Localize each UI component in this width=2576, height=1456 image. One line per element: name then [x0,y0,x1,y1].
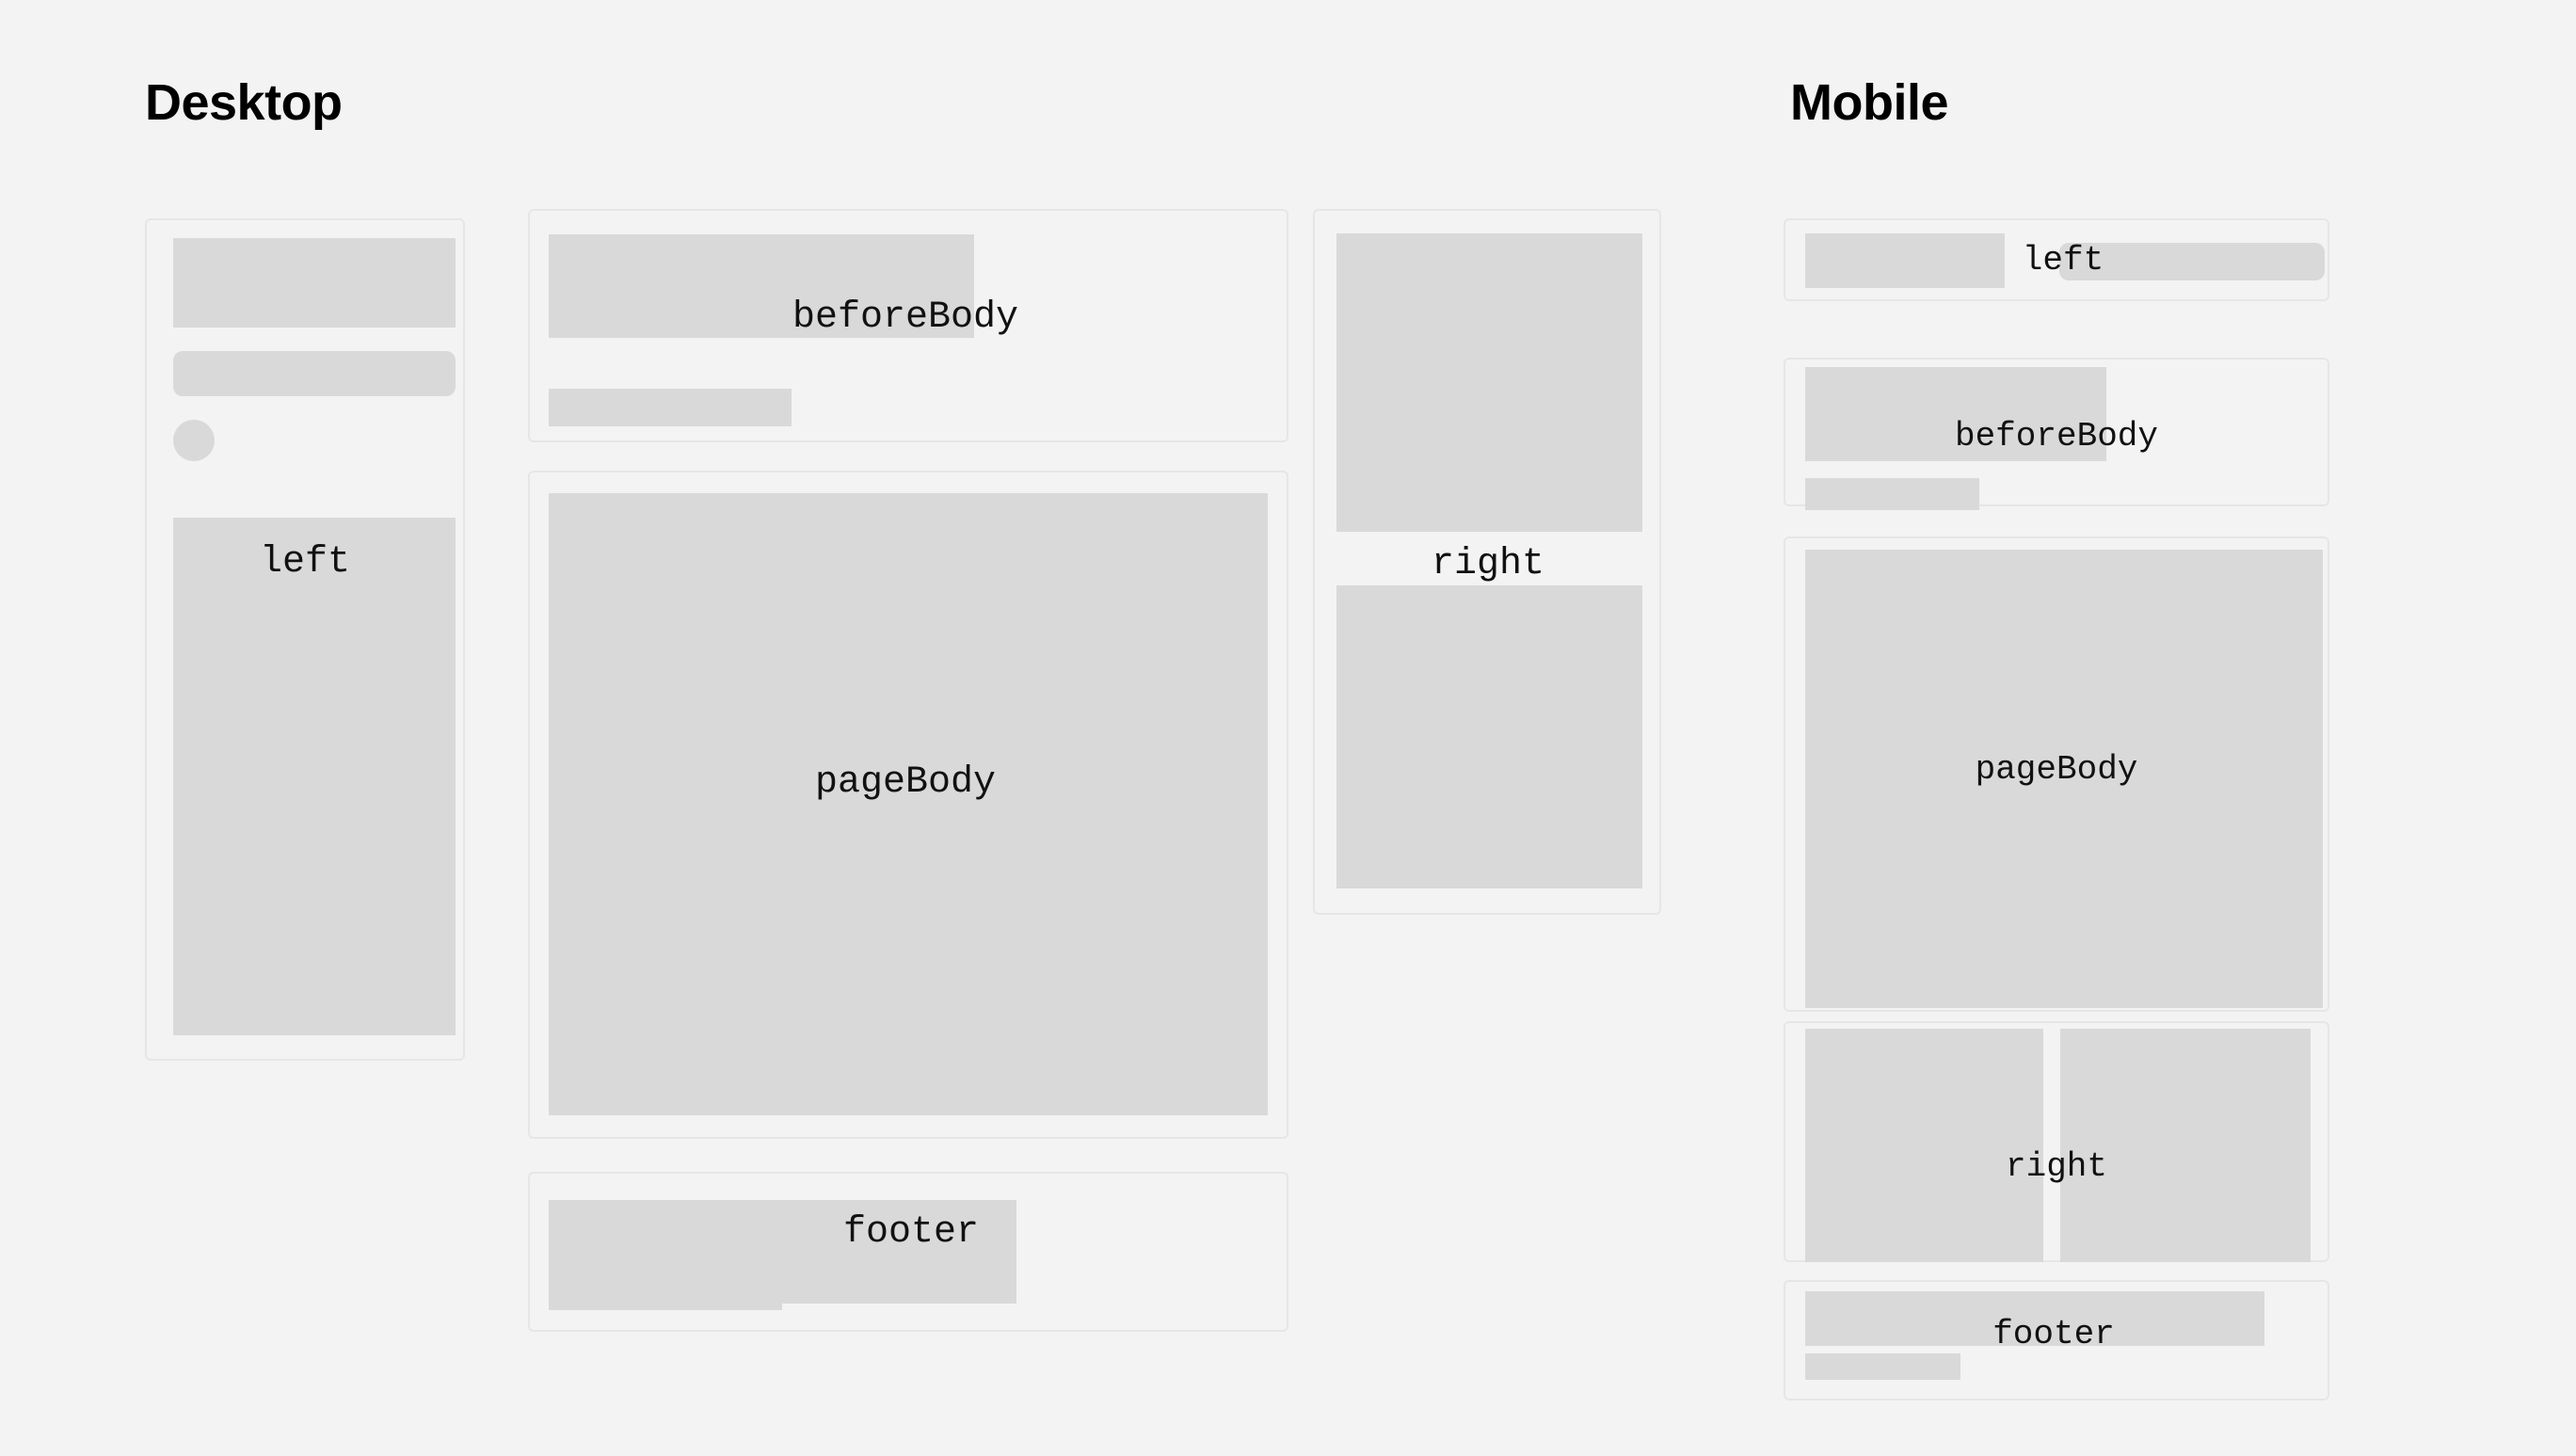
desktop-beforebody-block-wide [549,234,974,338]
desktop-right-block-bottom [1336,585,1642,888]
mobile-footer-block-wide [1805,1291,2264,1346]
mobile-beforebody-block-bar [1805,478,1979,510]
desktop-pagebody-block-large [549,493,1268,1115]
desktop-section-title: Desktop [145,77,343,128]
desktop-footer-block-bar [549,1272,782,1310]
mobile-beforebody-block-wide [1805,367,2106,461]
layout-preview-stage: Desktop left beforeBody pageBody right f… [0,0,2576,1456]
desktop-right-block-top [1336,233,1642,532]
desktop-left-block-rect [173,238,456,328]
mobile-footer-block-bar [1805,1353,1960,1380]
mobile-right-block-right [2060,1029,2311,1262]
mobile-section-title: Mobile [1790,77,1948,128]
mobile-right-block-left [1805,1029,2043,1262]
mobile-left-block-dot [2285,248,2312,275]
desktop-left-block-tall [173,518,456,1035]
mobile-left-block-rect [1805,233,2005,288]
desktop-beforebody-block-bar [549,389,792,426]
mobile-pagebody-block-large [1805,550,2323,1008]
desktop-left-block-dot [173,420,215,461]
desktop-left-block-pill [173,351,456,396]
